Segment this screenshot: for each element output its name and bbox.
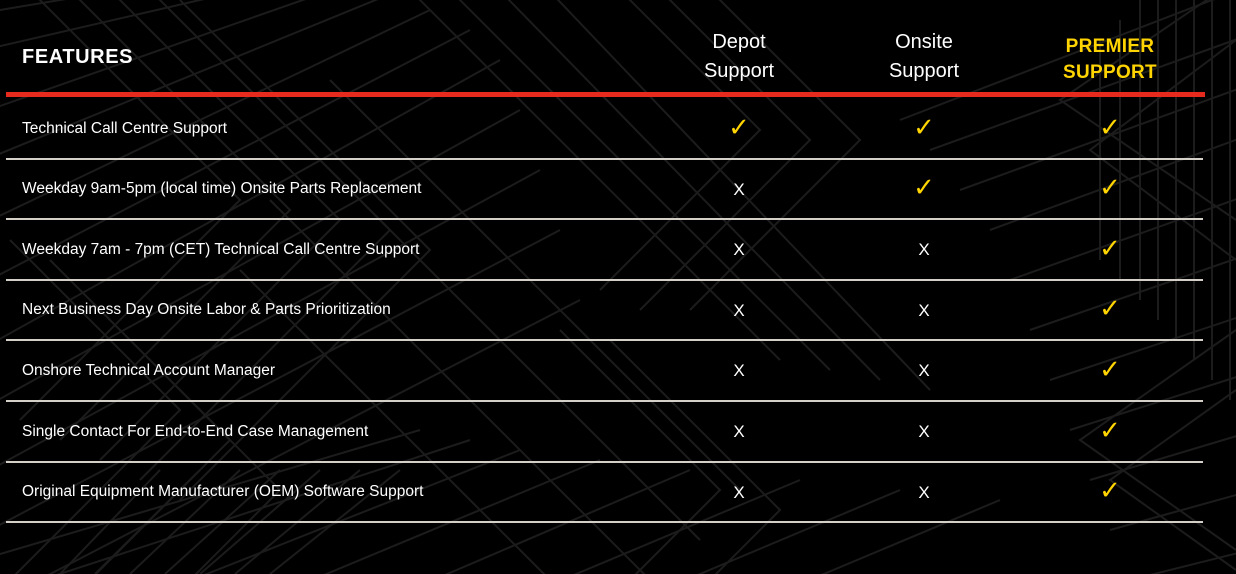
cell-depot: X xyxy=(639,219,839,280)
row-feature-label: Single Contact For End-to-End Case Manag… xyxy=(22,401,368,462)
support-plan-comparison-table: FEATURES Depot Support Onsite Support PR… xyxy=(0,0,1236,574)
table-row: Technical Call Centre Support✓✓✓ xyxy=(0,98,1236,159)
cell-premier: ✓ xyxy=(1010,98,1210,159)
cell-premier: ✓ xyxy=(1010,462,1210,523)
row-divider xyxy=(6,521,1203,523)
row-feature-label: Weekday 9am-5pm (local time) Onsite Part… xyxy=(22,159,421,220)
column-header-depot-support: Depot Support xyxy=(639,28,839,86)
cell-depot: X xyxy=(639,280,839,341)
cell-onsite: X xyxy=(824,280,1024,341)
cell-onsite: X xyxy=(824,219,1024,280)
check-icon: ✓ xyxy=(913,115,935,141)
cross-icon: X xyxy=(733,241,744,258)
cross-icon: X xyxy=(733,484,744,501)
table-row: Weekday 9am-5pm (local time) Onsite Part… xyxy=(0,159,1236,220)
cell-onsite: ✓ xyxy=(824,159,1024,220)
column-header-premier-line2: SUPPORT xyxy=(1010,60,1210,86)
cell-depot: X xyxy=(639,159,839,220)
cross-icon: X xyxy=(733,302,744,319)
row-feature-label: Onshore Technical Account Manager xyxy=(22,340,275,401)
cross-icon: X xyxy=(918,241,929,258)
cell-depot: ✓ xyxy=(639,98,839,159)
table-header: FEATURES Depot Support Onsite Support PR… xyxy=(0,0,1236,96)
check-icon: ✓ xyxy=(913,175,935,201)
cross-icon: X xyxy=(918,423,929,440)
table-row: Onshore Technical Account ManagerXX✓ xyxy=(0,340,1236,401)
cell-premier: ✓ xyxy=(1010,159,1210,220)
cross-icon: X xyxy=(733,362,744,379)
table-row: Original Equipment Manufacturer (OEM) So… xyxy=(0,462,1236,523)
check-icon: ✓ xyxy=(1099,115,1121,141)
cell-onsite: X xyxy=(824,340,1024,401)
cross-icon: X xyxy=(733,181,744,198)
cell-onsite: X xyxy=(824,462,1024,523)
cell-premier: ✓ xyxy=(1010,219,1210,280)
check-icon: ✓ xyxy=(1099,357,1121,383)
row-feature-label: Original Equipment Manufacturer (OEM) So… xyxy=(22,462,423,523)
cross-icon: X xyxy=(918,484,929,501)
row-feature-label: Weekday 7am - 7pm (CET) Technical Call C… xyxy=(22,219,419,280)
row-feature-label: Technical Call Centre Support xyxy=(22,98,227,159)
column-header-onsite-line1: Onsite xyxy=(824,28,1024,57)
header-accent-rule xyxy=(6,92,1205,97)
cell-depot: X xyxy=(639,401,839,462)
check-icon: ✓ xyxy=(1099,478,1121,504)
cell-depot: X xyxy=(639,340,839,401)
cross-icon: X xyxy=(733,423,744,440)
check-icon: ✓ xyxy=(728,115,750,141)
check-icon: ✓ xyxy=(1099,175,1121,201)
column-header-premier-line1: PREMIER xyxy=(1010,34,1210,60)
column-header-onsite-line2: Support xyxy=(824,57,1024,86)
cell-onsite: X xyxy=(824,401,1024,462)
table-row: Weekday 7am - 7pm (CET) Technical Call C… xyxy=(0,219,1236,280)
cell-premier: ✓ xyxy=(1010,280,1210,341)
table-row: Next Business Day Onsite Labor & Parts P… xyxy=(0,280,1236,341)
cross-icon: X xyxy=(918,302,929,319)
column-header-onsite-support: Onsite Support xyxy=(824,28,1024,86)
cell-depot: X xyxy=(639,462,839,523)
check-icon: ✓ xyxy=(1099,236,1121,262)
column-header-depot-line2: Support xyxy=(639,57,839,86)
column-header-depot-line1: Depot xyxy=(639,28,839,57)
check-icon: ✓ xyxy=(1099,296,1121,322)
features-column-title: FEATURES xyxy=(22,46,133,69)
row-feature-label: Next Business Day Onsite Labor & Parts P… xyxy=(22,280,391,341)
column-header-premier-support: PREMIER SUPPORT xyxy=(1010,34,1210,86)
table-row: Single Contact For End-to-End Case Manag… xyxy=(0,401,1236,462)
check-icon: ✓ xyxy=(1099,418,1121,444)
cell-onsite: ✓ xyxy=(824,98,1024,159)
cross-icon: X xyxy=(918,362,929,379)
cell-premier: ✓ xyxy=(1010,401,1210,462)
cell-premier: ✓ xyxy=(1010,340,1210,401)
